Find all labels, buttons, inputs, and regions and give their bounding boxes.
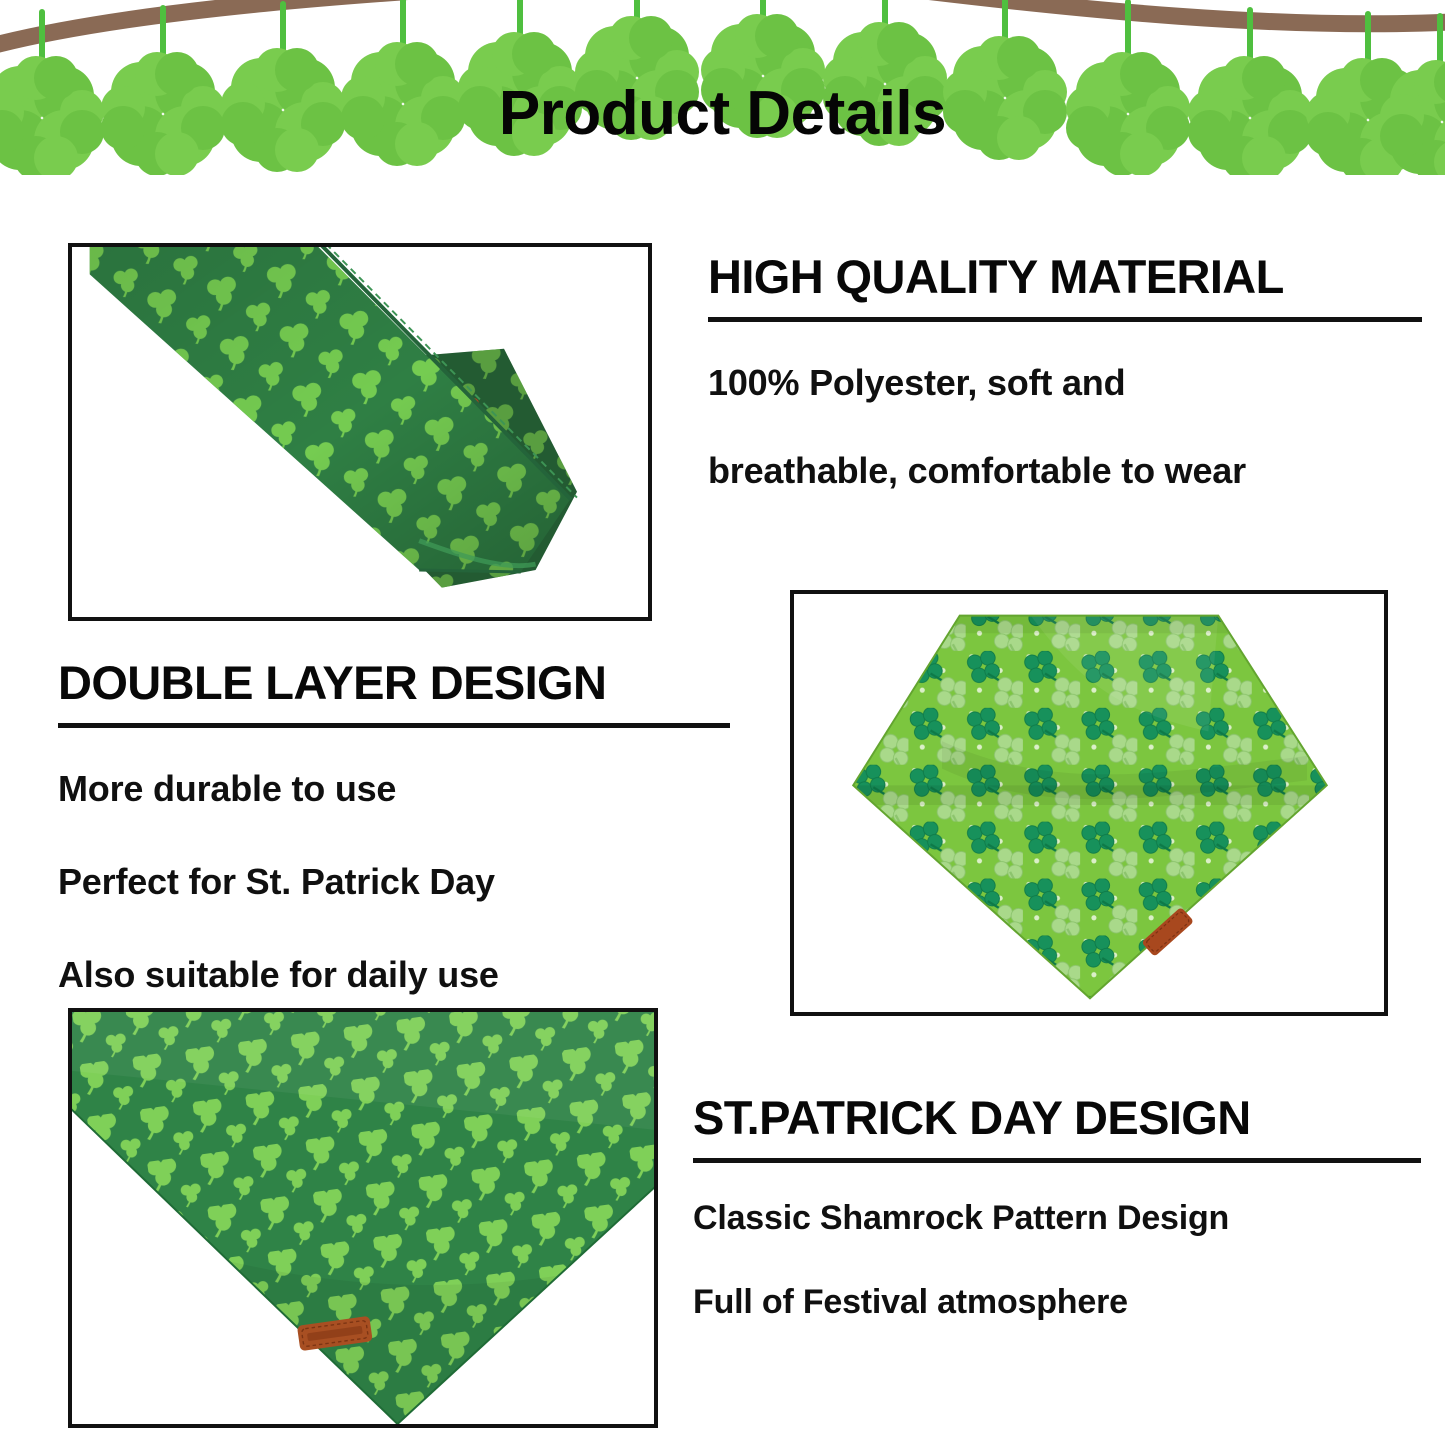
- feature-double-layer-design: DOUBLE LAYER DESIGN More durable to use …: [58, 658, 730, 1049]
- page-title: Product Details: [0, 83, 1445, 145]
- photo-folded-bandana: [68, 243, 652, 621]
- photo-flat-dark-bandana: [68, 1008, 658, 1428]
- photo-flat-light-bandana: [790, 590, 1388, 1016]
- feature-heading: DOUBLE LAYER DESIGN: [58, 658, 730, 707]
- feature-line: breathable, comfortable to wear: [708, 452, 1422, 490]
- feature-divider: [693, 1158, 1421, 1163]
- feature-line: Also suitable for daily use: [58, 956, 730, 994]
- feature-line: 100% Polyester, soft and: [708, 364, 1422, 402]
- folded-bandana-image: [72, 247, 648, 617]
- flat-dark-bandana-image: [72, 1012, 654, 1424]
- feature-divider: [58, 723, 730, 728]
- feature-high-quality-material: HIGH QUALITY MATERIAL 100% Polyester, so…: [708, 252, 1422, 540]
- feature-line-list: More durable to use Perfect for St. Patr…: [58, 770, 730, 993]
- feature-st-patrick-day-design: ST.PATRICK DAY DESIGN Classic Shamrock P…: [693, 1093, 1421, 1369]
- feature-line: More durable to use: [58, 770, 730, 808]
- feature-line-list: Classic Shamrock Pattern Design Full of …: [693, 1201, 1421, 1320]
- feature-heading: HIGH QUALITY MATERIAL: [708, 252, 1422, 301]
- feature-line-list: 100% Polyester, soft and breathable, com…: [708, 364, 1422, 490]
- feature-divider: [708, 317, 1422, 322]
- product-details-page: Product Details: [0, 0, 1445, 1445]
- feature-line: Perfect for St. Patrick Day: [58, 863, 730, 901]
- flat-light-bandana-image: [794, 594, 1384, 1012]
- feature-line: Classic Shamrock Pattern Design: [693, 1201, 1421, 1237]
- feature-line: Full of Festival atmosphere: [693, 1285, 1421, 1321]
- feature-heading: ST.PATRICK DAY DESIGN: [693, 1093, 1421, 1142]
